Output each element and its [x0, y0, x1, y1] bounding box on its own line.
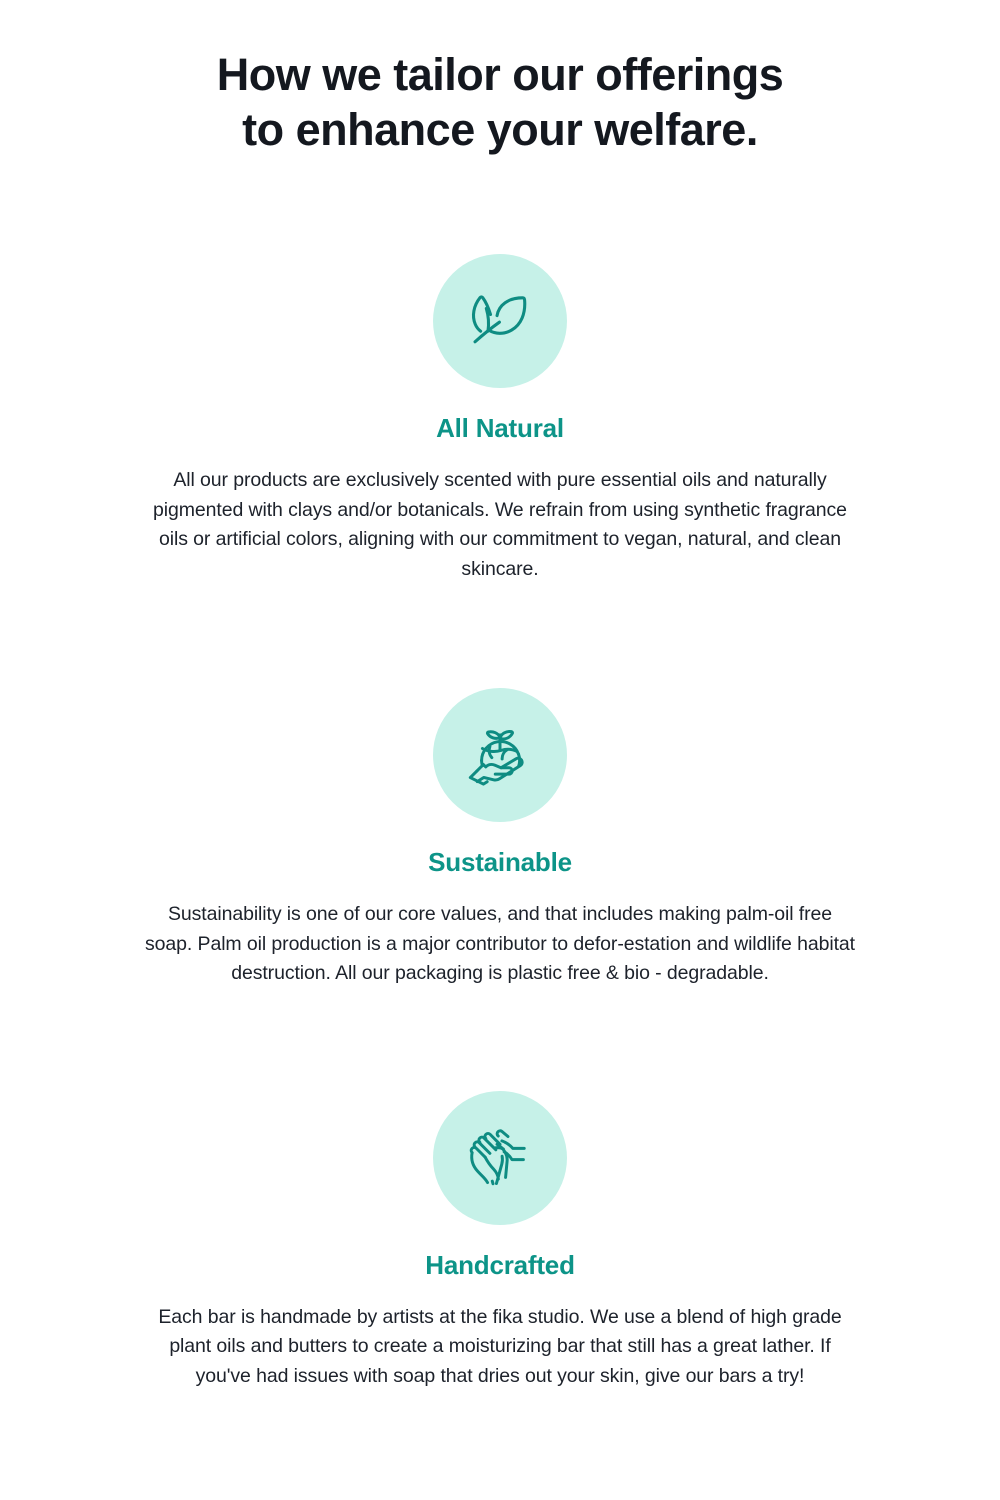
feature-icon-badge — [433, 688, 567, 822]
feature-title: All Natural — [436, 413, 564, 444]
feature-item-all-natural: All Natural All our products are exclusi… — [0, 254, 1000, 604]
feature-title: Sustainable — [428, 847, 572, 878]
feature-description: Sustainability is one of our core values… — [145, 900, 855, 989]
feature-item-handcrafted: Handcrafted Each bar is handmade by arti… — [0, 1091, 1000, 1412]
feature-list: All Natural All our products are exclusi… — [0, 254, 1000, 1411]
feature-title: Handcrafted — [425, 1250, 575, 1281]
features-page: How we tailor our offerings to enhance y… — [0, 0, 1000, 1500]
feature-description: All our products are exclusively scented… — [145, 466, 855, 585]
hand-holding-earth-icon — [462, 717, 538, 793]
two-hands-icon — [462, 1120, 538, 1196]
feature-description: Each bar is handmade by artists at the f… — [145, 1303, 855, 1392]
page-title-line-2: to enhance your welfare. — [242, 104, 758, 155]
page-title: How we tailor our offerings to enhance y… — [110, 48, 890, 158]
page-title-line-1: How we tailor our offerings — [217, 49, 784, 100]
feature-item-sustainable: Sustainable Sustainability is one of our… — [0, 688, 1000, 1009]
leaves-icon — [462, 283, 538, 359]
feature-icon-badge — [433, 254, 567, 388]
feature-icon-badge — [433, 1091, 567, 1225]
